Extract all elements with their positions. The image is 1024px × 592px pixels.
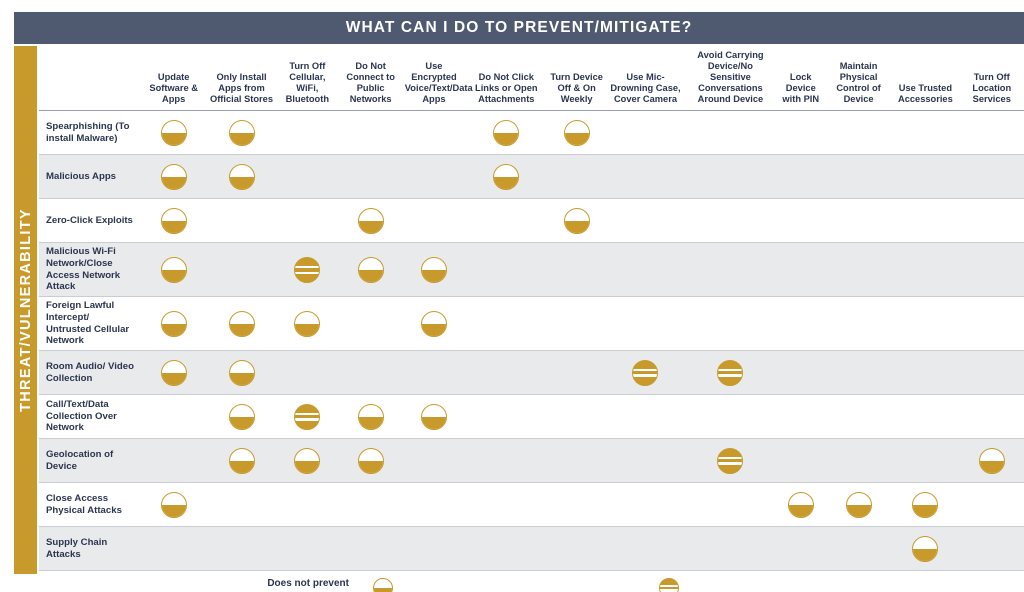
matrix-cell-r8-c7: [606, 483, 685, 527]
matrix-header-row: Update Software & AppsOnly Install Apps …: [39, 46, 1024, 111]
column-header-10: Maintain Physical Control of Device: [826, 46, 891, 111]
matrix-row: Geolocation of Device: [39, 439, 1024, 483]
matrix-cell-r2-c4: [403, 199, 465, 243]
row-label-3: Malicious Wi-Fi Network/Close Access Net…: [39, 243, 141, 297]
matrix-cell-r3-c9: [776, 243, 826, 297]
half-circle-icon: [912, 492, 938, 518]
matrix-cell-r1-c8: [685, 155, 775, 199]
matrix-cell-r0-c7: [606, 111, 685, 155]
matrix-cell-r6-c3: [338, 395, 402, 439]
half-circle-icon: [229, 404, 255, 430]
column-header-12: Turn Off Location Services: [960, 46, 1024, 111]
row-label-5: Room Audio/ Video Collection: [39, 351, 141, 395]
matrix-cell-r1-c12: [960, 155, 1024, 199]
matrix-cell-r7-c4: [403, 439, 465, 483]
matrix-cell-r8-c0: [141, 483, 207, 527]
matrix-cell-r9-c8: [685, 527, 775, 571]
matrix-cell-r4-c9: [776, 297, 826, 351]
matrix-cell-r1-c6: [548, 155, 606, 199]
column-header-0: Update Software & Apps: [141, 46, 207, 111]
matrix-cell-r5-c9: [776, 351, 826, 395]
matrix-cell-r7-c12: [960, 439, 1024, 483]
matrix-cell-r0-c2: [276, 111, 338, 155]
matrix-cell-r0-c8: [685, 111, 775, 155]
half-circle-icon: [373, 578, 393, 592]
matrix-cell-r1-c5: [465, 155, 547, 199]
full-circle-icon: [717, 360, 743, 386]
matrix-row: Call/Text/Data Collection Over Network: [39, 395, 1024, 439]
matrix-cell-r3-c3: [338, 243, 402, 297]
row-label-4: Foreign Lawful Intercept/ Untrusted Cell…: [39, 297, 141, 351]
matrix-cell-r0-c1: [207, 111, 276, 155]
matrix-cell-r0-c0: [141, 111, 207, 155]
matrix-cell-r2-c12: [960, 199, 1024, 243]
matrix-cell-r9-c3: [338, 527, 402, 571]
matrix-cell-r5-c11: [891, 351, 959, 395]
matrix-cell-r2-c7: [606, 199, 685, 243]
legend-item-does-not-prevent: Does not prevent: [267, 578, 349, 589]
column-header-11: Use Trusted Accessories: [891, 46, 959, 111]
half-circle-icon: [358, 448, 384, 474]
matrix-cell-r5-c5: [465, 351, 547, 395]
full-circle-icon: [717, 448, 743, 474]
matrix-cell-r6-c5: [465, 395, 547, 439]
threat-axis-label: THREAT/VULNERABILITY: [18, 208, 34, 412]
matrix-cell-r4-c10: [826, 297, 891, 351]
matrix-cell-r3-c7: [606, 243, 685, 297]
half-circle-icon: [229, 120, 255, 146]
half-circle-icon: [161, 492, 187, 518]
matrix-row: Supply Chain Attacks: [39, 527, 1024, 571]
legend-item-full: [659, 578, 686, 592]
matrix-cell-r0-c6: [548, 111, 606, 155]
column-header-2: Turn Off Cellular, WiFi, Bluetooth: [276, 46, 338, 111]
matrix-cell-r5-c8: [685, 351, 775, 395]
matrix-cell-r4-c2: [276, 297, 338, 351]
half-circle-icon: [161, 257, 187, 283]
full-circle-icon: [294, 257, 320, 283]
matrix-cell-r5-c10: [826, 351, 891, 395]
matrix-header: Update Software & AppsOnly Install Apps …: [39, 46, 1024, 111]
column-header-3: Do Not Connect to Public Networks: [338, 46, 402, 111]
matrix-cell-r4-c0: [141, 297, 207, 351]
half-circle-icon: [229, 311, 255, 337]
matrix-cell-r0-c5: [465, 111, 547, 155]
row-label-6: Call/Text/Data Collection Over Network: [39, 395, 141, 439]
matrix-cell-r9-c5: [465, 527, 547, 571]
matrix-cell-r5-c7: [606, 351, 685, 395]
matrix-cell-r4-c4: [403, 297, 465, 351]
matrix-cell-r9-c1: [207, 527, 276, 571]
matrix-cell-r4-c6: [548, 297, 606, 351]
half-circle-icon: [229, 164, 255, 190]
matrix-cell-r9-c6: [548, 527, 606, 571]
matrix-cell-r3-c6: [548, 243, 606, 297]
matrix-cell-r2-c5: [465, 199, 547, 243]
matrix-cell-r4-c12: [960, 297, 1024, 351]
half-circle-icon: [161, 120, 187, 146]
half-circle-icon: [229, 448, 255, 474]
matrix-row: Close Access Physical Attacks: [39, 483, 1024, 527]
matrix-cell-r9-c2: [276, 527, 338, 571]
mitigation-matrix-table: Update Software & AppsOnly Install Apps …: [39, 46, 1024, 571]
matrix-cell-r6-c12: [960, 395, 1024, 439]
matrix-cell-r6-c9: [776, 395, 826, 439]
half-circle-icon: [161, 311, 187, 337]
matrix-cell-r3-c5: [465, 243, 547, 297]
half-circle-icon: [979, 448, 1005, 474]
half-circle-icon: [912, 536, 938, 562]
matrix-cell-r8-c12: [960, 483, 1024, 527]
matrix-cell-r9-c10: [826, 527, 891, 571]
matrix-cell-r8-c8: [685, 483, 775, 527]
matrix-cell-r6-c10: [826, 395, 891, 439]
matrix-cell-r6-c7: [606, 395, 685, 439]
matrix-cell-r8-c9: [776, 483, 826, 527]
matrix-cell-r4-c1: [207, 297, 276, 351]
matrix-cell-r9-c7: [606, 527, 685, 571]
matrix-cell-r6-c2: [276, 395, 338, 439]
matrix-cell-r1-c0: [141, 155, 207, 199]
column-header-6: Turn Device Off & On Weekly: [548, 46, 606, 111]
half-circle-icon: [161, 208, 187, 234]
matrix-cell-r7-c2: [276, 439, 338, 483]
matrix-cell-r3-c12: [960, 243, 1024, 297]
matrix-cell-r4-c3: [338, 297, 402, 351]
matrix-cell-r0-c11: [891, 111, 959, 155]
matrix-cell-r5-c3: [338, 351, 402, 395]
row-label-1: Malicious Apps: [39, 155, 141, 199]
matrix-corner-cell: [39, 46, 141, 111]
row-label-7: Geolocation of Device: [39, 439, 141, 483]
half-circle-icon: [358, 208, 384, 234]
matrix-cell-r2-c11: [891, 199, 959, 243]
half-circle-icon: [294, 448, 320, 474]
matrix-cell-r1-c1: [207, 155, 276, 199]
matrix-legend: Does not prevent: [39, 578, 1024, 592]
matrix-cell-r1-c11: [891, 155, 959, 199]
column-header-4: Use Encrypted Voice/Text/Data Apps: [403, 46, 465, 111]
matrix-cell-r3-c8: [685, 243, 775, 297]
half-circle-icon: [564, 208, 590, 234]
matrix-cell-r6-c1: [207, 395, 276, 439]
matrix-cell-r9-c4: [403, 527, 465, 571]
matrix-cell-r7-c8: [685, 439, 775, 483]
matrix-cell-r3-c4: [403, 243, 465, 297]
half-circle-icon: [358, 404, 384, 430]
full-circle-icon: [294, 404, 320, 430]
full-circle-icon: [632, 360, 658, 386]
matrix-cell-r8-c10: [826, 483, 891, 527]
half-circle-icon: [161, 164, 187, 190]
matrix-cell-r6-c0: [141, 395, 207, 439]
half-circle-icon: [788, 492, 814, 518]
matrix-cell-r7-c0: [141, 439, 207, 483]
matrix-cell-r8-c3: [338, 483, 402, 527]
matrix-cell-r0-c12: [960, 111, 1024, 155]
legend-item-half: [373, 578, 400, 592]
matrix-cell-r2-c6: [548, 199, 606, 243]
half-circle-icon: [493, 164, 519, 190]
matrix-cell-r5-c6: [548, 351, 606, 395]
half-circle-icon: [358, 257, 384, 283]
half-circle-icon: [846, 492, 872, 518]
matrix-cell-r6-c6: [548, 395, 606, 439]
matrix-cell-r7-c10: [826, 439, 891, 483]
matrix-cell-r9-c0: [141, 527, 207, 571]
matrix-cell-r3-c0: [141, 243, 207, 297]
matrix-cell-r4-c5: [465, 297, 547, 351]
matrix-cell-r8-c11: [891, 483, 959, 527]
page-title: WHAT CAN I DO TO PREVENT/MITIGATE?: [346, 19, 693, 37]
matrix-body: Spearphishing (To install Malware)Malici…: [39, 111, 1024, 571]
matrix-table-container: Update Software & AppsOnly Install Apps …: [39, 46, 1024, 574]
matrix-row: Malicious Wi-Fi Network/Close Access Net…: [39, 243, 1024, 297]
matrix-cell-r3-c11: [891, 243, 959, 297]
matrix-cell-r2-c3: [338, 199, 402, 243]
matrix-cell-r8-c6: [548, 483, 606, 527]
matrix-cell-r6-c11: [891, 395, 959, 439]
matrix-cell-r7-c1: [207, 439, 276, 483]
matrix-cell-r5-c0: [141, 351, 207, 395]
matrix-cell-r6-c4: [403, 395, 465, 439]
matrix-cell-r3-c2: [276, 243, 338, 297]
row-label-2: Zero-Click Exploits: [39, 199, 141, 243]
matrix-cell-r1-c10: [826, 155, 891, 199]
matrix-cell-r5-c12: [960, 351, 1024, 395]
matrix-cell-r0-c10: [826, 111, 891, 155]
column-header-9: Lock Device with PIN: [776, 46, 826, 111]
matrix-row: Room Audio/ Video Collection: [39, 351, 1024, 395]
matrix-cell-r6-c8: [685, 395, 775, 439]
matrix-cell-r7-c5: [465, 439, 547, 483]
matrix-cell-r5-c1: [207, 351, 276, 395]
half-circle-icon: [493, 120, 519, 146]
row-label-9: Supply Chain Attacks: [39, 527, 141, 571]
row-label-8: Close Access Physical Attacks: [39, 483, 141, 527]
matrix-cell-r0-c4: [403, 111, 465, 155]
matrix-cell-r2-c1: [207, 199, 276, 243]
column-header-7: Use Mic-Drowning Case, Cover Camera: [606, 46, 685, 111]
matrix-cell-r1-c9: [776, 155, 826, 199]
matrix-cell-r0-c9: [776, 111, 826, 155]
matrix-cell-r7-c3: [338, 439, 402, 483]
half-circle-icon: [421, 404, 447, 430]
matrix-cell-r3-c10: [826, 243, 891, 297]
matrix-cell-r1-c3: [338, 155, 402, 199]
matrix-cell-r4-c11: [891, 297, 959, 351]
matrix-cell-r1-c2: [276, 155, 338, 199]
matrix-cell-r0-c3: [338, 111, 402, 155]
matrix-row: Foreign Lawful Intercept/ Untrusted Cell…: [39, 297, 1024, 351]
matrix-row: Zero-Click Exploits: [39, 199, 1024, 243]
column-header-5: Do Not Click Links or Open Attachments: [465, 46, 547, 111]
matrix-cell-r9-c12: [960, 527, 1024, 571]
matrix-cell-r9-c9: [776, 527, 826, 571]
matrix-cell-r4-c8: [685, 297, 775, 351]
matrix-cell-r7-c9: [776, 439, 826, 483]
matrix-cell-r8-c2: [276, 483, 338, 527]
threat-axis-bar: THREAT/VULNERABILITY: [14, 46, 37, 574]
column-header-1: Only Install Apps from Official Stores: [207, 46, 276, 111]
half-circle-icon: [229, 360, 255, 386]
matrix-cell-r7-c6: [548, 439, 606, 483]
matrix-cell-r3-c1: [207, 243, 276, 297]
half-circle-icon: [564, 120, 590, 146]
matrix-cell-r7-c11: [891, 439, 959, 483]
column-header-8: Avoid Carrying Device/No Sensitive Conve…: [685, 46, 775, 111]
matrix-cell-r4-c7: [606, 297, 685, 351]
legend-label-0: Does not prevent: [267, 578, 349, 589]
matrix-cell-r2-c2: [276, 199, 338, 243]
matrix-cell-r9-c11: [891, 527, 959, 571]
matrix-cell-r5-c4: [403, 351, 465, 395]
matrix-cell-r5-c2: [276, 351, 338, 395]
matrix-cell-r1-c7: [606, 155, 685, 199]
matrix-cell-r2-c8: [685, 199, 775, 243]
row-label-0: Spearphishing (To install Malware): [39, 111, 141, 155]
half-circle-icon: [161, 360, 187, 386]
matrix-cell-r7-c7: [606, 439, 685, 483]
matrix-row: Malicious Apps: [39, 155, 1024, 199]
matrix-row: Spearphishing (To install Malware): [39, 111, 1024, 155]
matrix-cell-r8-c5: [465, 483, 547, 527]
matrix-cell-r2-c0: [141, 199, 207, 243]
matrix-cell-r8-c1: [207, 483, 276, 527]
matrix-cell-r1-c4: [403, 155, 465, 199]
page-title-banner: WHAT CAN I DO TO PREVENT/MITIGATE?: [14, 12, 1024, 44]
matrix-cell-r2-c10: [826, 199, 891, 243]
mitigation-matrix-page: WHAT CAN I DO TO PREVENT/MITIGATE? THREA…: [0, 0, 1024, 592]
half-circle-icon: [421, 257, 447, 283]
half-circle-icon: [294, 311, 320, 337]
half-circle-icon: [421, 311, 447, 337]
full-circle-icon: [659, 578, 679, 592]
matrix-cell-r2-c9: [776, 199, 826, 243]
matrix-cell-r8-c4: [403, 483, 465, 527]
